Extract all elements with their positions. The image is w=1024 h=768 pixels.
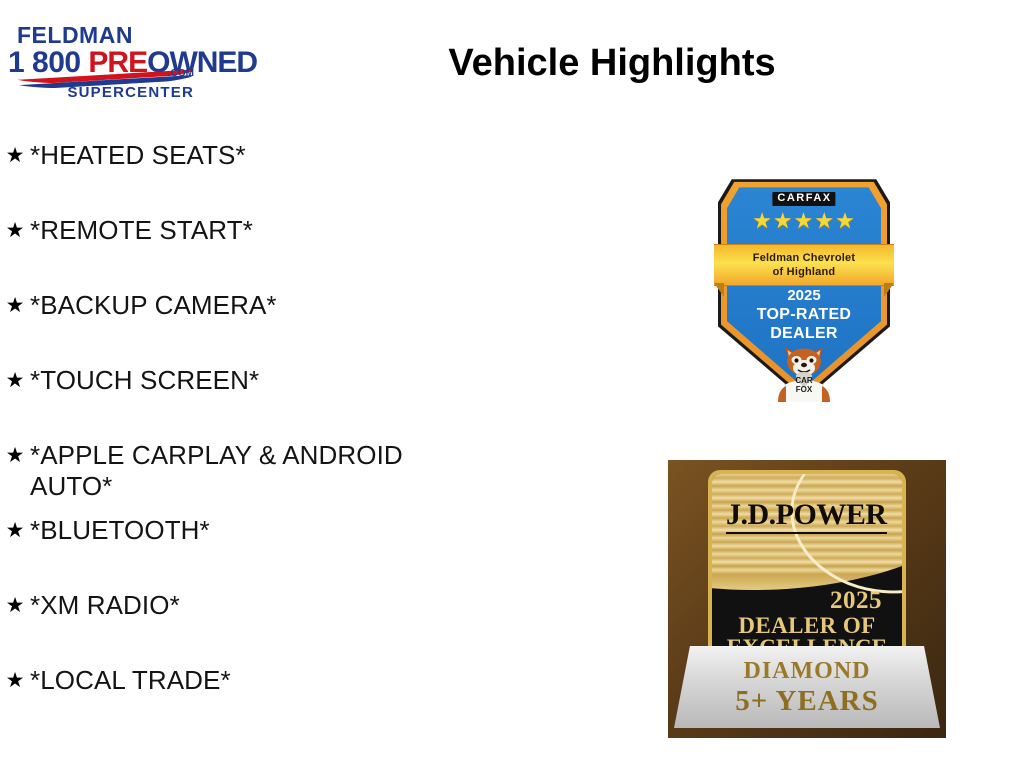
highlight-label: *XM RADIO* [30,590,180,621]
vehicle-highlights-list: ★ *HEATED SEATS* ★ *REMOTE START* ★ *BAC… [0,140,560,740]
list-item: ★ *XM RADIO* [0,590,560,665]
star-bullet-icon: ★ [0,290,30,321]
list-item: ★ *TOUCH SCREEN* [0,365,560,440]
carfax-wordmark: CARFAX [772,192,835,206]
list-item: ★ *REMOTE START* [0,215,560,290]
jd-power-duration-label: 5+ YEARS [668,686,946,716]
star-bullet-icon: ★ [0,140,30,171]
logo-feldman-text: FELDMAN [17,24,198,47]
star-bullet-icon: ★ [0,215,30,246]
list-item: ★ *APPLE CARPLAY & ANDROID AUTO* [0,440,560,515]
car-fox-mascot-icon: CAR FOX [772,346,836,402]
carfax-award-year: 2025 [718,288,890,304]
highlight-label: *HEATED SEATS* [30,140,246,171]
dealer-name-ribbon: Feldman Chevrolet of Highland [714,244,894,286]
five-star-rating-icon: ★★★★★ [718,210,890,232]
jd-power-plaque: J.D.POWER 2025 DEALER OF EXCELLENCE [708,470,906,670]
dealer-name-line2: of Highland [714,264,894,278]
star-bullet-icon: ★ [0,440,30,471]
star-bullet-icon: ★ [0,590,30,621]
star-bullet-icon: ★ [0,665,30,696]
star-bullet-icon: ★ [0,365,30,396]
highlight-label: *TOUCH SCREEN* [30,365,259,396]
car-fox-shirt-text: CAR FOX [772,377,836,394]
logo-supercenter-text: SUPERCENTER [67,84,194,101]
highlight-label: *BLUETOOTH* [30,515,210,546]
list-item: ★ *HEATED SEATS* [0,140,560,215]
list-item: ★ *BLUETOOTH* [0,515,560,590]
highlight-label: *LOCAL TRADE* [30,665,231,696]
jd-power-wordmark: J.D.POWER [726,500,887,534]
list-item: ★ *BACKUP CAMERA* [0,290,560,365]
jd-power-tier-label: DIAMOND [668,658,946,684]
dealer-name-line1: Feldman Chevrolet [714,245,894,264]
jd-power-award-year: 2025 [830,588,882,613]
highlight-label: *APPLE CARPLAY & ANDROID AUTO* [30,440,480,502]
highlight-label: *BACKUP CAMERA* [30,290,277,321]
list-item: ★ *LOCAL TRADE* [0,665,560,740]
jd-power-dealer-of-excellence-award: J.D.POWER 2025 DEALER OF EXCELLENCE DIAM… [668,460,946,738]
highlight-label: *REMOTE START* [30,215,253,246]
dealer-logo: FELDMAN 1 800 PREOWNED .COM SUPERCENTER [8,24,198,100]
star-bullet-icon: ★ [0,515,30,546]
logo-1800-text: 1 800 [8,46,88,79]
carfax-award-line1: TOP-RATED [718,306,890,324]
carfax-award-line2: DEALER [718,325,890,343]
car-fox-shirt-line2: FOX [772,386,836,395]
carfax-top-rated-dealer-badge: CARFAX ★★★★★ Feldman Chevrolet of Highla… [718,170,890,400]
page-title: Vehicle Highlights [300,42,924,85]
page-header: FELDMAN 1 800 PREOWNED .COM SUPERCENTER … [0,0,1024,120]
logo-dotcom-text: .COM [168,68,194,79]
